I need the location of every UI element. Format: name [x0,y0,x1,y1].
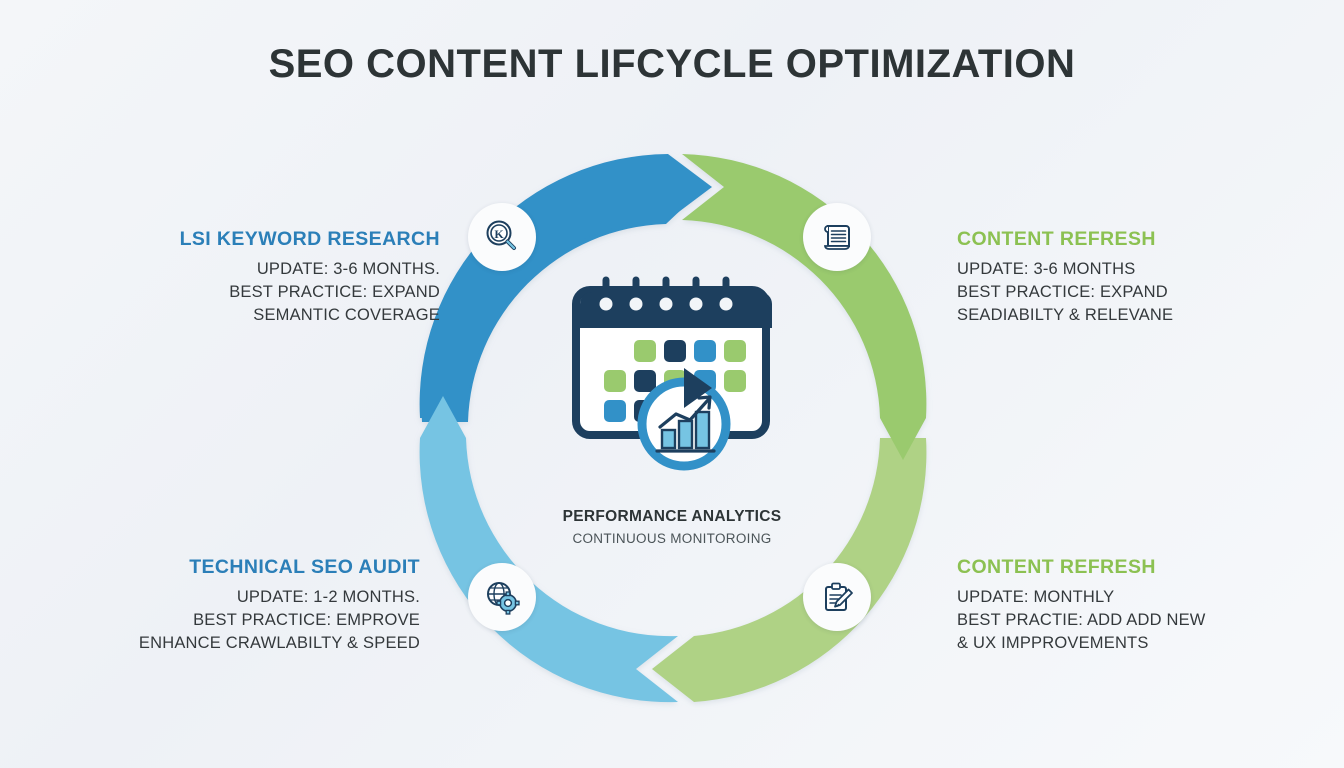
stage-heading-content-update: CONTENT REFRESH [957,556,1337,579]
stage-line: BEST PRACTICE: EXPAND [40,281,440,304]
globe-gear-icon [482,577,522,617]
magnifier-keyword-icon: K [482,217,522,257]
node-content-update[interactable] [803,563,871,631]
stage-line: SEMANTIC COVERAGE [40,304,440,327]
clipboard-pencil-icon [817,577,857,617]
node-keyword-research[interactable]: K [468,203,536,271]
center-labels: PERFORMANCE ANALYTICS CONTINUOUS MONITOR… [522,508,822,546]
stage-text-technical-seo-audit: TECHNICAL SEO AUDIT UPDATE: 1-2 MONTHS. … [40,556,420,654]
center-title: PERFORMANCE ANALYTICS [522,508,822,526]
center-icon-wrap [566,272,786,482]
stage-line: ENHANCE CRAWLABILTY & SPEED [40,632,420,655]
stage-line: BEST PRACTICE: EXPAND [957,281,1337,304]
stage-line: UPDATE: MONTHLY [957,586,1337,609]
stage-heading-content-refresh: CONTENT REFRESH [957,228,1337,251]
stage-heading-keyword-research: LSI KEYWORD RESEARCH [40,228,440,251]
node-content-refresh[interactable] [803,203,871,271]
stage-text-keyword-research: LSI KEYWORD RESEARCH UPDATE: 3-6 MONTHS.… [40,228,440,326]
stage-line: & UX IMPPROVEMENTS [957,632,1337,655]
stage-line: SEADIABILTY & RELEVANE [957,304,1337,327]
stage-text-content-refresh: CONTENT REFRESH UPDATE: 3-6 MONTHS BEST … [957,228,1337,326]
stage-line: BEST PRACTIE: ADD ADD NEW [957,609,1337,632]
stage-heading-technical-seo-audit: TECHNICAL SEO AUDIT [40,556,420,579]
stage-text-content-update: CONTENT REFRESH UPDATE: MONTHLY BEST PRA… [957,556,1337,654]
calendar-analytics-icon [566,272,786,482]
stage-line: UPDATE: 3-6 MONTHS [957,258,1337,281]
page-title: SEO CONTENT LIFCYCLE OPTIMIZATION [0,42,1344,87]
scroll-document-icon [817,217,857,257]
center-subtitle: CONTINUOUS MONITOROING [522,531,822,546]
node-technical-seo-audit[interactable] [468,563,536,631]
stage-line: UPDATE: 1-2 MONTHS. [40,586,420,609]
stage-line: BEST PRACTICE: EMPROVE [40,609,420,632]
stage-line: UPDATE: 3-6 MONTHS. [40,258,440,281]
svg-text:K: K [494,227,504,241]
cycle-diagram: K [402,128,942,728]
